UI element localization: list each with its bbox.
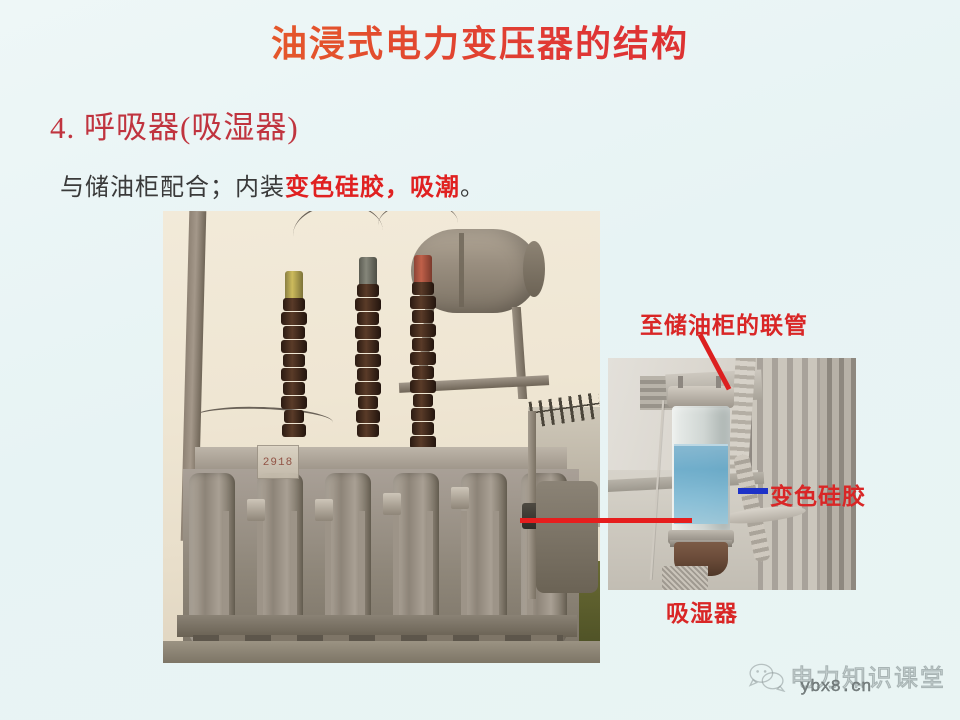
annotation-moisture-absorber: 吸湿器 [666, 594, 738, 628]
radiator-valve [383, 493, 401, 515]
wechat-icon [748, 662, 786, 692]
floor-mesh [662, 566, 708, 590]
colour-changing-silica-gel [674, 446, 728, 524]
hv-bushing [355, 257, 381, 438]
watermark: 电力知识课堂 ybx8.cn [748, 656, 954, 700]
hv-bushing [410, 255, 436, 450]
ground-pad [163, 641, 600, 663]
hv-bushing [281, 271, 307, 438]
body-text-plain-1: 与储油柜配合；内装 [60, 175, 285, 201]
bushing-sheds [281, 298, 307, 437]
body-text-highlight: 变色硅胶，吸潮 [285, 175, 460, 201]
bushing-cap [414, 255, 432, 283]
bushing-cap [285, 271, 303, 299]
tank-base-frame [177, 615, 577, 637]
watermark-url: ybx8.cn [800, 678, 871, 697]
tank-band [459, 233, 464, 307]
page-title: 油浸式电力变压器的结构 [0, 22, 960, 66]
annotation-pipe-to-conservator: 至储油柜的联管 [640, 306, 808, 340]
pointer-line-silica-gel [738, 488, 768, 494]
radiator-valve [451, 487, 469, 509]
breather-top-cap [668, 386, 734, 408]
annotation-silica-gel: 变色硅胶 [770, 477, 866, 511]
bushing-sheds [355, 284, 381, 437]
section-heading: 4. 呼吸器(吸湿器) [50, 102, 299, 147]
moisture-absorber-photo [608, 358, 856, 590]
body-text: 与储油柜配合；内装变色硅胶，吸潮。 [60, 167, 485, 202]
cap-bolt [678, 376, 683, 388]
body-text-plain-2: 。 [460, 175, 485, 201]
rating-nameplate: 2918 [257, 445, 299, 479]
radiator-valve [315, 499, 333, 521]
bushing-sheds [410, 282, 436, 449]
bushing-cap [359, 257, 377, 285]
side-oil-tank [536, 481, 598, 593]
radiator-valve [247, 499, 265, 521]
wall-grille [820, 358, 856, 590]
connector-line [520, 518, 692, 523]
transformer-photo: 2918 [163, 211, 600, 663]
